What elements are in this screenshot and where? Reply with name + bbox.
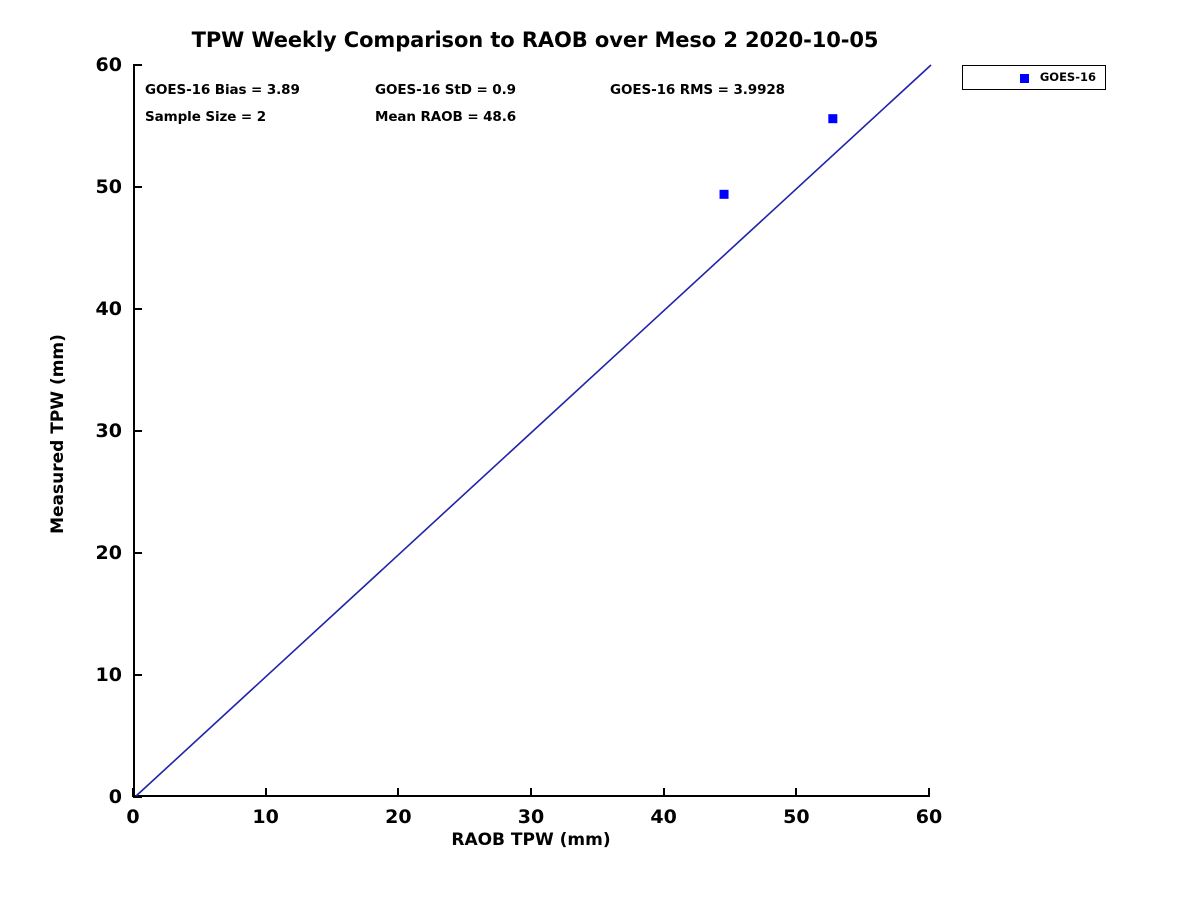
x-tick-label: 40: [650, 806, 676, 828]
page-title: TPW Weekly Comparison to RAOB over Meso …: [0, 28, 1070, 52]
annotation-bias: GOES-16 Bias = 3.89: [145, 82, 300, 98]
series-group: [135, 65, 931, 797]
y-tick-mark: [133, 186, 142, 188]
x-tick-mark: [397, 788, 399, 797]
x-tick-label: 60: [916, 806, 942, 828]
x-tick-mark: [795, 788, 797, 797]
x-tick-mark: [663, 788, 665, 797]
x-tick-mark: [530, 788, 532, 797]
chart-figure: TPW Weekly Comparison to RAOB over Meso …: [0, 0, 1200, 900]
y-tick-mark: [133, 796, 142, 798]
x-tick-label: 50: [783, 806, 809, 828]
annotation-mean-raob: Mean RAOB = 48.6: [375, 109, 516, 125]
x-tick-label: 20: [385, 806, 411, 828]
data-point-marker: [828, 114, 837, 123]
data-point-marker: [720, 190, 729, 199]
y-tick-mark: [133, 674, 142, 676]
plot-canvas: [135, 65, 931, 797]
x-tick-label: 30: [518, 806, 544, 828]
x-tick-label: 0: [126, 806, 139, 828]
one-to-one-reference-line: [135, 65, 931, 797]
annotation-rms: GOES-16 RMS = 3.9928: [610, 82, 785, 98]
x-tick-mark: [928, 788, 930, 797]
y-tick-mark: [133, 552, 142, 554]
y-tick-mark: [133, 308, 142, 310]
x-axis-label: RAOB TPW (mm): [133, 830, 929, 850]
x-tick-mark: [265, 788, 267, 797]
legend-label: GOES-16: [963, 70, 1096, 84]
plot-area: [133, 65, 929, 797]
y-axis-label: Measured TPW (mm): [48, 68, 68, 800]
annotation-std: GOES-16 StD = 0.9: [375, 82, 516, 98]
x-tick-label: 10: [252, 806, 278, 828]
y-tick-mark: [133, 430, 142, 432]
annotation-sample-size: Sample Size = 2: [145, 109, 266, 125]
legend: GOES-16: [962, 65, 1106, 90]
y-tick-mark: [133, 64, 142, 66]
